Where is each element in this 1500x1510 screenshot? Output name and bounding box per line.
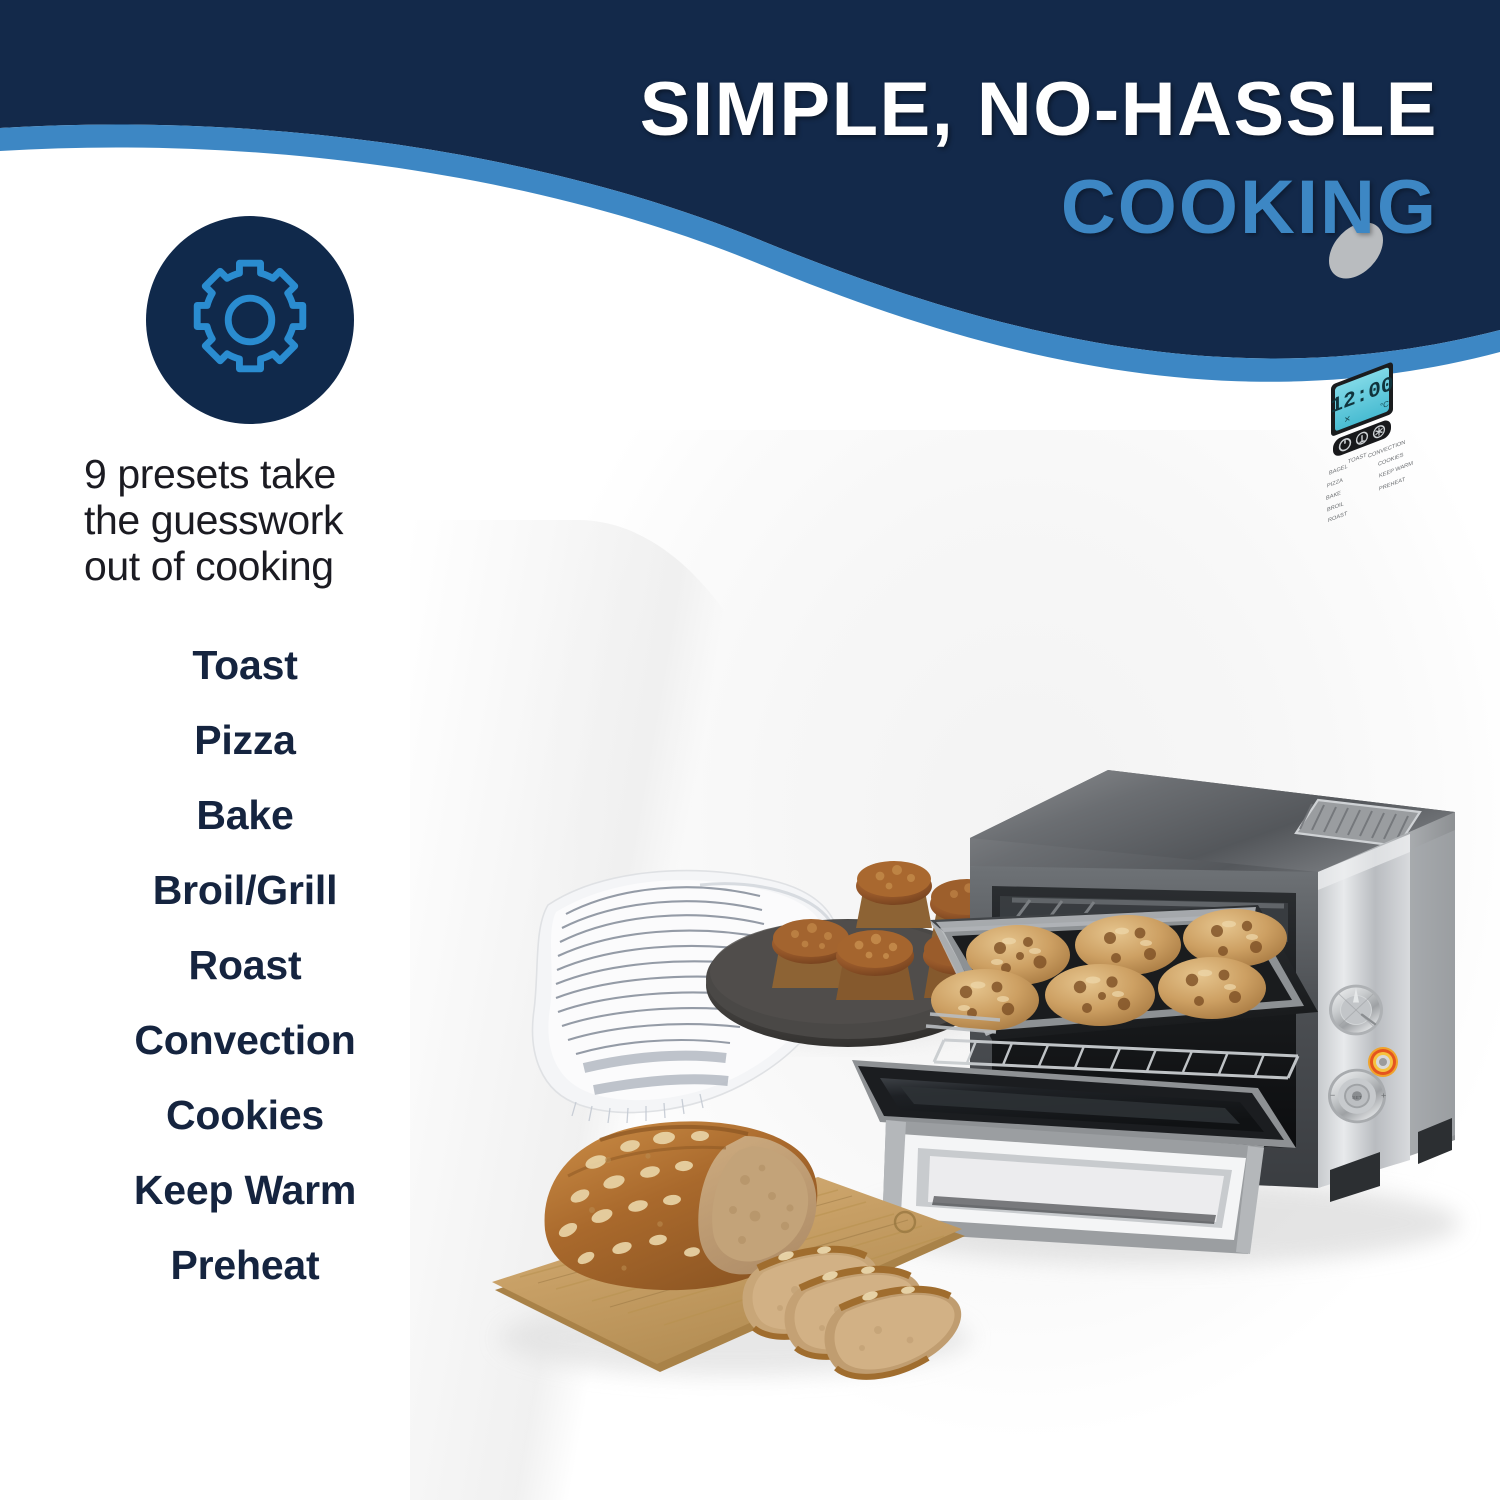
svg-text:TOAST: TOAST xyxy=(1348,452,1367,465)
svg-text:PREHEAT: PREHEAT xyxy=(1379,477,1405,493)
preset-gear-badge xyxy=(146,216,354,424)
header-title-block: SIMPLE, NO-HASSLE COOKING xyxy=(640,72,1438,248)
page-title-line-1: SIMPLE, NO-HASSLE xyxy=(640,72,1438,148)
muffin xyxy=(856,861,932,928)
preset-item-bake: Bake xyxy=(20,778,470,853)
oven-control-panel[interactable]: 12:00 ✕ °C xyxy=(1318,214,1413,1188)
preset-item-keep-warm: Keep Warm xyxy=(20,1153,470,1228)
muffin xyxy=(836,930,914,1000)
preset-item-cookies: Cookies xyxy=(20,1078,470,1153)
preset-item-preheat: Preheat xyxy=(20,1228,470,1303)
preset-item-convection: Convection xyxy=(20,1003,470,1078)
svg-text:SET: SET xyxy=(1352,1095,1362,1101)
lede-line-1: 9 presets take xyxy=(84,452,434,498)
svg-text:PIZZA: PIZZA xyxy=(1327,478,1343,490)
toaster-oven: 12:00 ✕ °C xyxy=(852,214,1455,1254)
cookie xyxy=(1158,957,1266,1019)
svg-text:BAGEL: BAGEL xyxy=(1329,464,1348,477)
preset-item-broil-grill: Broil/Grill xyxy=(20,853,470,928)
feature-lede: 9 presets take the guesswork out of cook… xyxy=(84,452,434,590)
preset-list: Toast Pizza Bake Broil/Grill Roast Conve… xyxy=(20,628,470,1303)
svg-text:−: − xyxy=(1330,1090,1335,1100)
svg-text:ROAST: ROAST xyxy=(1328,511,1348,524)
lede-line-2: the guesswork xyxy=(84,498,434,544)
svg-text:BAKE: BAKE xyxy=(1326,490,1341,502)
preset-item-pizza: Pizza xyxy=(20,703,470,778)
lede-line-3: out of cooking xyxy=(84,544,434,590)
preset-item-toast: Toast xyxy=(20,628,470,703)
gear-icon xyxy=(184,254,316,386)
preset-item-roast: Roast xyxy=(20,928,470,1003)
cookie xyxy=(1045,964,1155,1026)
svg-text:BROIL: BROIL xyxy=(1327,501,1345,514)
page-title-line-2: COOKING xyxy=(640,168,1438,248)
svg-text:+: + xyxy=(1381,1090,1386,1100)
product-feature-graphic: 12:00 ✕ °C xyxy=(0,0,1500,1500)
warranty-seal-badge xyxy=(1368,1047,1398,1077)
cookie xyxy=(931,969,1039,1031)
oven-temperature-knob[interactable]: SET + − xyxy=(1328,1069,1386,1124)
